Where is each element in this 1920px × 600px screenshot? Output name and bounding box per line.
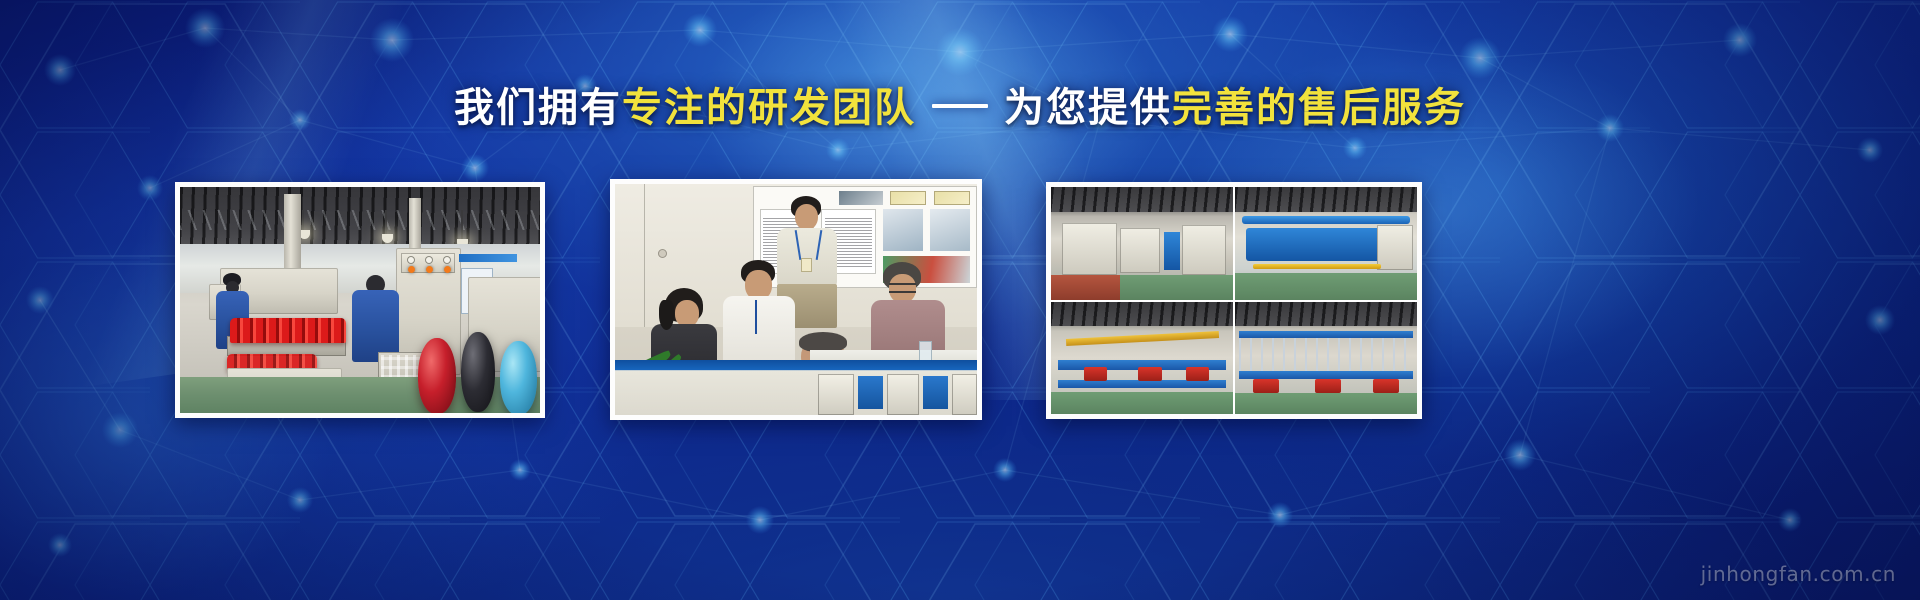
glasses-icon — [889, 283, 916, 293]
transport-cart — [1315, 379, 1340, 393]
roof-truss — [180, 210, 540, 230]
lamp-stem — [385, 210, 387, 235]
control-knob-icon — [443, 256, 451, 264]
ponytail — [659, 300, 674, 330]
factory-roof — [1235, 302, 1417, 327]
equipment-cabinet-blue — [1164, 232, 1180, 270]
photo-equipment-collage — [1051, 187, 1417, 414]
control-knob-icon — [425, 256, 433, 264]
yellow-rail — [1253, 264, 1380, 270]
lamp-stem — [461, 210, 463, 239]
headline-part-2: 专注的研发团队 — [622, 86, 916, 130]
workshop-floor — [1235, 273, 1417, 300]
lower-rail — [1239, 371, 1414, 379]
wall-edge — [644, 184, 645, 327]
overhead-crane-beam — [1065, 331, 1218, 346]
machine-unit — [887, 374, 920, 415]
site-watermark: jinhongfan.com.cn — [1701, 562, 1896, 586]
transport-cart — [1186, 367, 1210, 382]
blue-pipe — [1242, 216, 1409, 224]
photo-card-production-line[interactable] — [175, 182, 545, 418]
machine-unit-blue — [923, 376, 948, 409]
photo-card-team-meeting[interactable] — [610, 179, 982, 420]
transport-cart — [1138, 367, 1162, 382]
transport-cart — [1373, 379, 1398, 393]
machine-unit — [952, 374, 977, 415]
factory-roof — [1051, 187, 1233, 212]
control-knob-icon — [407, 256, 415, 264]
collage-quadrant-hanging-line — [1235, 302, 1417, 415]
workshop-floor — [1051, 392, 1233, 415]
vase-red — [418, 338, 456, 413]
photo-card-equipment-collage[interactable] — [1046, 182, 1422, 419]
poster-diagram — [883, 209, 923, 251]
vase-blue — [500, 341, 537, 413]
machine-unit-blue — [858, 376, 883, 409]
machine-unit — [818, 374, 854, 415]
equipment-cabinet — [1120, 228, 1160, 273]
headline-part-1: 我们拥有 — [454, 86, 622, 130]
hanging-hooks-row — [1239, 338, 1414, 372]
vase-dark — [461, 332, 495, 412]
collage-quadrant-workshop — [1051, 187, 1233, 300]
workshop-floor — [1235, 393, 1417, 414]
equipment-cabinet — [1182, 225, 1226, 275]
poster-photo — [839, 191, 882, 205]
control-cabinet — [1377, 225, 1413, 270]
factory-roof — [1235, 187, 1417, 212]
overhead-rail — [1239, 331, 1414, 338]
conveyor-rail — [1058, 380, 1225, 388]
certificate-thumb — [890, 191, 926, 205]
red-bottles-row — [230, 318, 345, 343]
promo-banner: 我们拥有专注的研发团队为您提供完善的售后服务 — [0, 0, 1920, 600]
machine-photo-strip — [615, 360, 977, 415]
poster-diagram — [930, 209, 970, 251]
lamp-stem — [302, 210, 304, 230]
floor-walkway — [1051, 275, 1120, 300]
page-title: 我们拥有专注的研发团队为您提供完善的售后服务 — [0, 84, 1920, 132]
transport-cart — [1253, 379, 1278, 393]
equipment-cabinet — [1062, 223, 1117, 275]
headline-part-3: 为您提供 — [1004, 86, 1172, 130]
collage-quadrant-blue-line — [1235, 187, 1417, 300]
collage-quadrant-conveyor — [1051, 302, 1233, 415]
certificate-thumb — [934, 191, 970, 205]
photo-production-line — [180, 187, 540, 413]
machine-nameplate — [459, 254, 517, 262]
photo-team-meeting — [615, 184, 977, 415]
transport-cart — [1084, 367, 1108, 382]
headline-part-4: 完善的售后服务 — [1172, 86, 1466, 130]
headline-divider-dash — [932, 104, 988, 108]
factory-roof — [1051, 302, 1233, 327]
